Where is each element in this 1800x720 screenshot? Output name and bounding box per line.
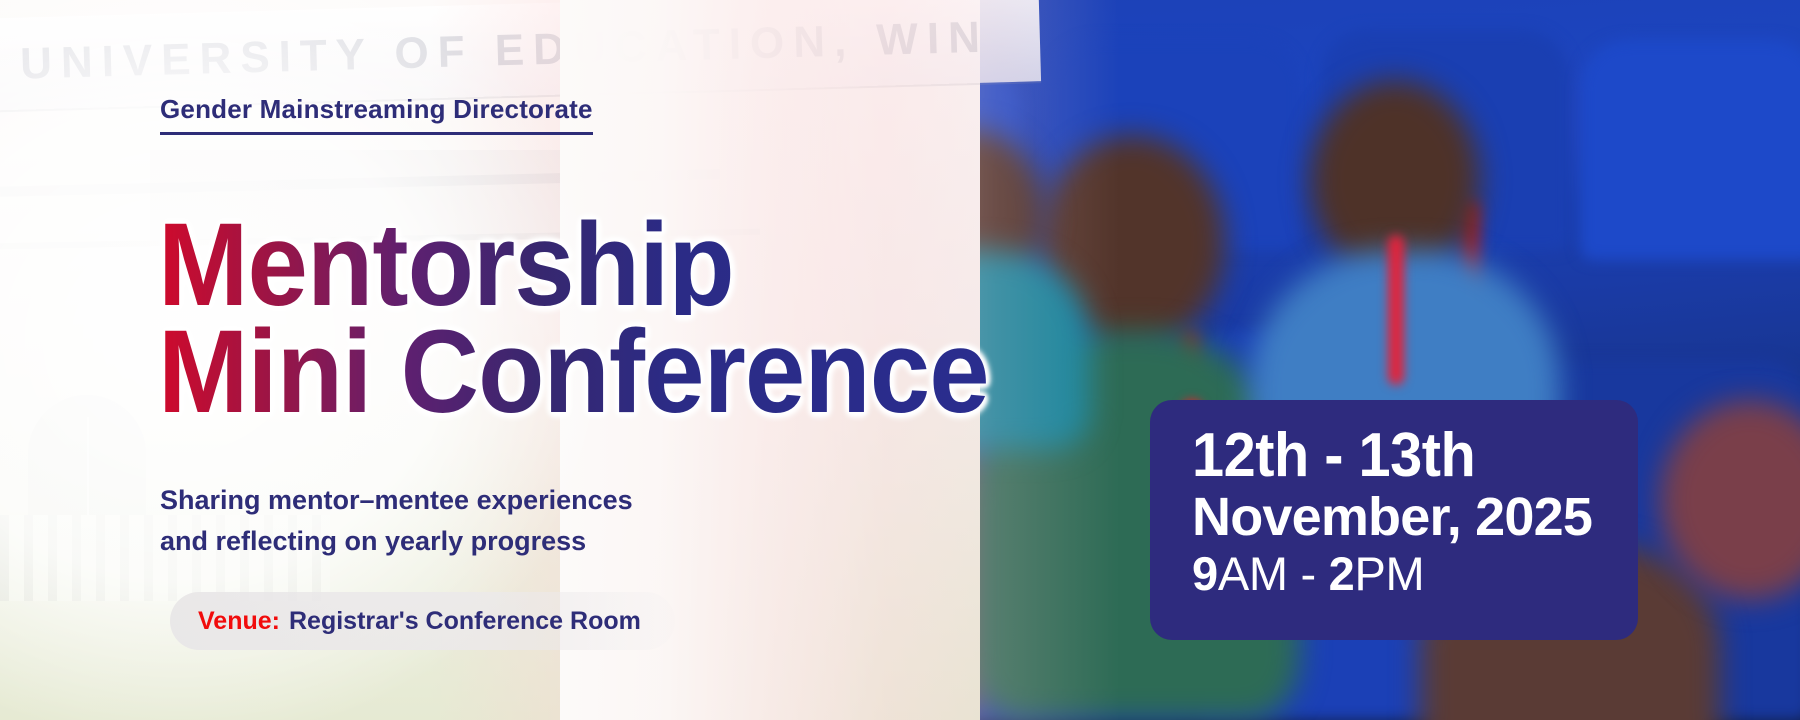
date-time-badge: 12th - 13th November, 2025 9AM - 2PM — [1150, 400, 1638, 640]
badge-days: 12th - 13th — [1192, 424, 1607, 487]
venue-label: Venue: — [198, 607, 280, 636]
badge-time: 9AM - 2PM — [1192, 548, 1638, 601]
event-subtitle: Sharing mentor–mentee experiences and re… — [160, 480, 680, 562]
banner-content: Gender Mainstreaming Directorate Mentors… — [0, 0, 1800, 720]
event-banner: UNIVERSITY OF EDUCATION, WIN Gender Main… — [0, 0, 1800, 720]
badge-time-end-unit: PM — [1354, 547, 1424, 600]
venue-pill: Venue: Registrar's Conference Room — [170, 592, 675, 650]
venue-value: Registrar's Conference Room — [289, 607, 641, 636]
badge-time-start-number: 9 — [1192, 547, 1218, 600]
event-title-line-1: Mentorship — [158, 216, 989, 315]
event-title-line-2: Mini Conference — [158, 323, 989, 422]
badge-time-end-number: 2 — [1329, 547, 1355, 600]
badge-time-separator: - — [1288, 547, 1329, 600]
badge-time-start-unit: AM — [1218, 547, 1288, 600]
badge-month-year: November, 2025 — [1192, 489, 1638, 546]
organizer-label: Gender Mainstreaming Directorate — [160, 94, 593, 135]
event-title: Mentorship Mini Conference — [158, 216, 1061, 422]
